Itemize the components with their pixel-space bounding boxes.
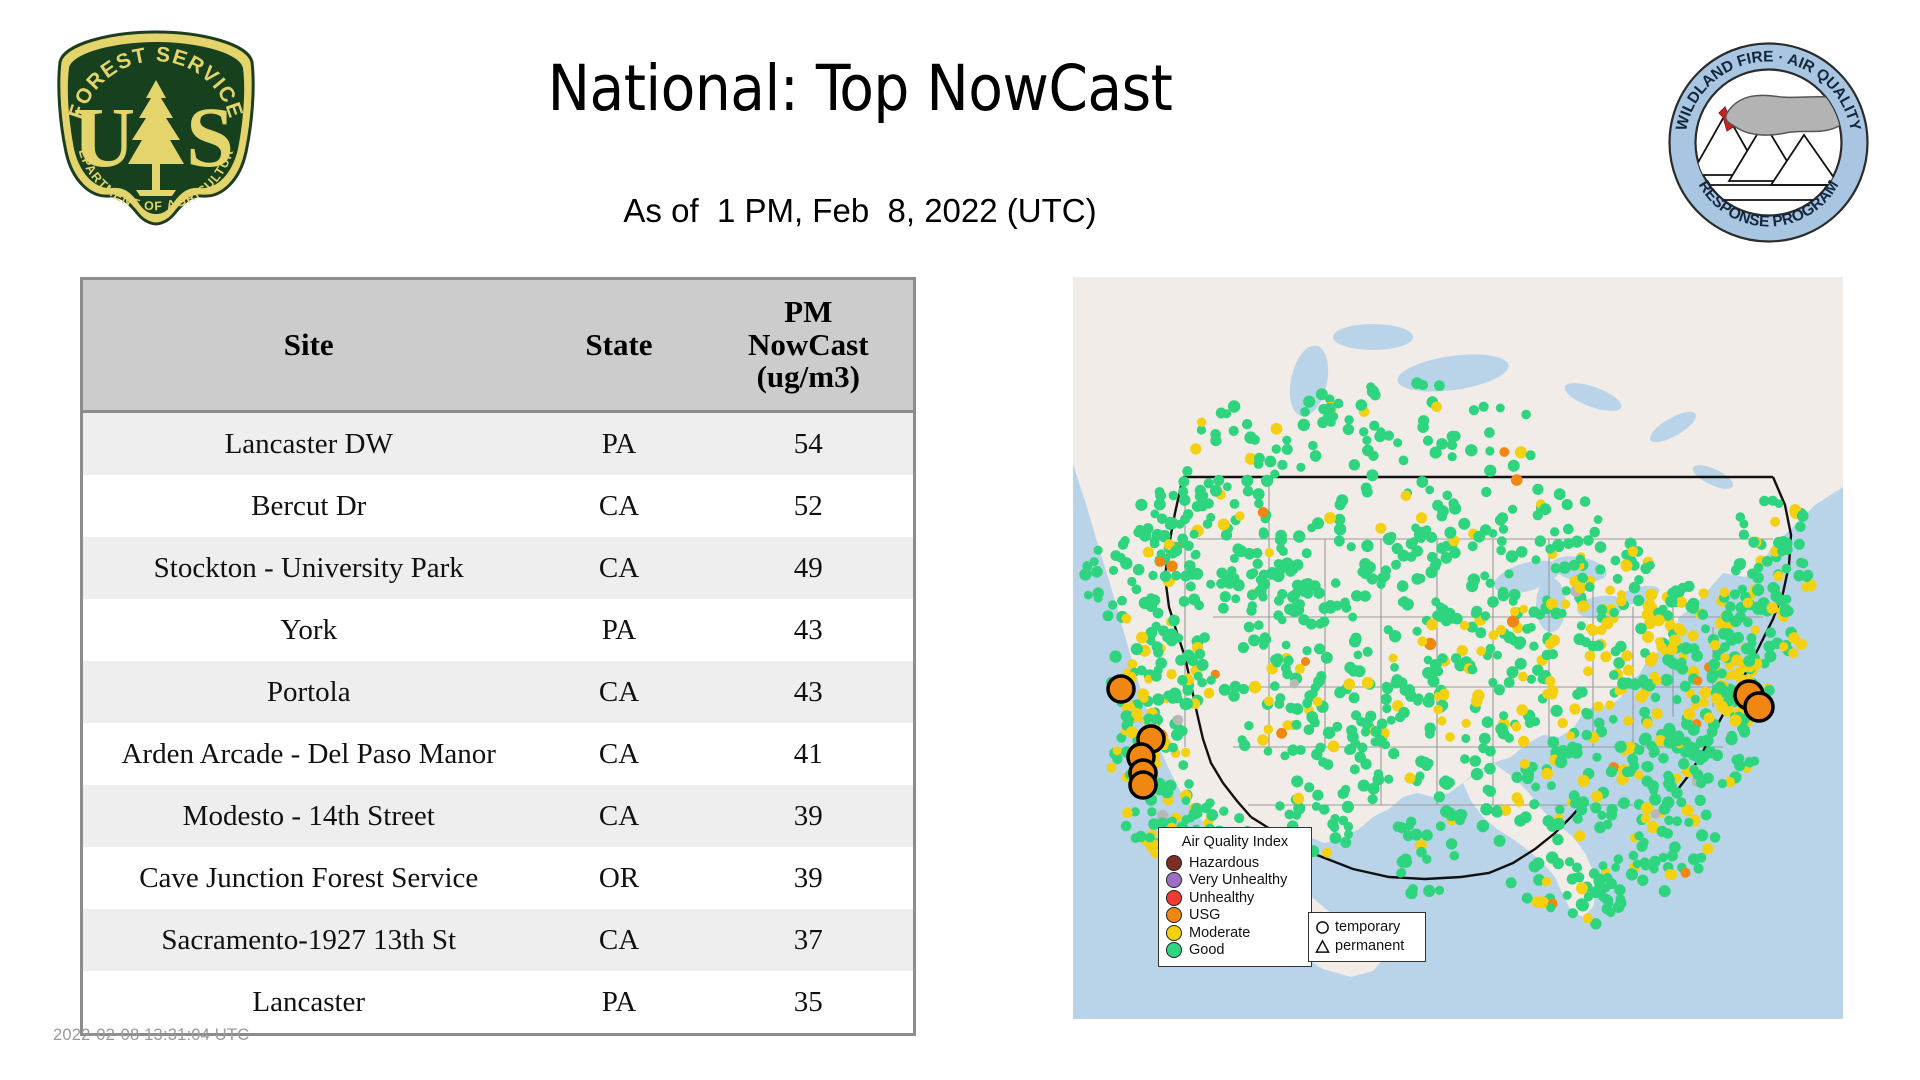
table-row[interactable]: Lancaster DWPA54 (82, 412, 915, 476)
pm-label: PM (784, 294, 832, 329)
monitor-dot (1484, 427, 1495, 438)
monitor-dot (1764, 650, 1776, 662)
monitor-dot (1257, 734, 1268, 745)
monitor-dot (1669, 841, 1681, 853)
monitor-dot (1426, 532, 1437, 543)
legend-swatch-icon (1166, 855, 1182, 871)
table-row[interactable]: YorkPA43 (82, 599, 915, 661)
monitor-dot (1204, 688, 1215, 699)
monitor-dot (1155, 490, 1166, 501)
monitor-dot (1417, 636, 1427, 646)
monitor-dot (1494, 684, 1505, 695)
monitor-dot (1152, 641, 1163, 652)
monitor-dot (1545, 676, 1555, 686)
monitor-dot (1213, 475, 1224, 486)
monitor-dot (1348, 613, 1357, 622)
monitor-dot (1168, 743, 1178, 753)
monitor-dot (1362, 445, 1374, 457)
monitor-dot (1664, 869, 1674, 879)
monitor-dot (1363, 647, 1373, 657)
monitor-dot (1242, 419, 1252, 429)
monitor-dot (1419, 757, 1431, 769)
monitor-dot (1406, 817, 1416, 827)
monitor-dot (1229, 426, 1239, 436)
monitor-dot (1693, 863, 1703, 873)
monitor-dot (1422, 855, 1431, 864)
monitor-dot (1179, 596, 1190, 607)
monitor-dot (1680, 681, 1691, 692)
monitor-dot (1307, 524, 1316, 533)
monitor-dot (1770, 517, 1780, 527)
monitor-dot (1499, 447, 1509, 457)
cell-site: Portola (82, 661, 535, 723)
monitor-dot (1621, 650, 1632, 661)
monitor-dot (1636, 841, 1647, 852)
legend-swatch-icon (1166, 942, 1182, 958)
monitor-dot (1434, 705, 1443, 714)
monitor-dot (1120, 557, 1132, 569)
monitor-dot (1446, 838, 1457, 849)
monitor-dot (1282, 444, 1293, 455)
monitor-dot (1258, 507, 1269, 518)
legend-row-very-unhealthy: Very Unhealthy (1166, 872, 1304, 890)
monitor-dot (1659, 885, 1671, 897)
monitor-dot (1667, 657, 1679, 669)
monitor-dot (1642, 718, 1652, 728)
monitor-dot (1121, 821, 1132, 832)
monitor-dot (1293, 793, 1304, 804)
monitor-dot (1265, 456, 1277, 468)
monitor-dot (1691, 695, 1700, 704)
air-quality-map[interactable]: Air Quality Index HazardousVery Unhealth… (1073, 277, 1843, 1019)
monitor-dot (1566, 731, 1575, 740)
monitor-dot (1303, 396, 1315, 408)
cell-value: 54 (704, 412, 915, 476)
monitor-dot (1348, 665, 1360, 677)
legend-row-permanent: permanent (1315, 937, 1419, 956)
monitor-dot (1606, 766, 1617, 777)
monitor-dot (1302, 646, 1311, 655)
monitor-dot (1688, 853, 1700, 865)
monitor-dot (1184, 560, 1196, 572)
monitor-dot (1747, 633, 1757, 643)
table-row[interactable]: Arden Arcade - Del Paso ManorCA41 (82, 723, 915, 785)
monitor-dot (1720, 587, 1730, 597)
monitor-dot (1462, 719, 1471, 728)
monitor-dot (1330, 832, 1342, 844)
monitor-dot (1150, 510, 1159, 519)
legend-row-hazardous: Hazardous (1166, 854, 1304, 872)
monitor-dot (1218, 518, 1230, 530)
monitor-dot (1230, 499, 1240, 509)
monitor-dot (1316, 671, 1326, 681)
monitor-dot (1166, 561, 1177, 572)
legend-label-temporary: temporary (1335, 920, 1400, 935)
monitor-dot (1507, 616, 1519, 628)
monitor-dot (1580, 496, 1591, 507)
monitor-dot (1509, 589, 1521, 601)
monitor-dot (1712, 750, 1724, 762)
top-site-marker (1108, 676, 1134, 702)
table-row[interactable]: Cave Junction Forest ServiceOR39 (82, 847, 915, 909)
monitor-dot (1641, 762, 1651, 772)
monitor-dot (1354, 651, 1363, 660)
monitor-dot (1435, 886, 1444, 895)
table-row[interactable]: Bercut DrCA52 (82, 475, 915, 537)
monitor-dot (1663, 771, 1673, 781)
monitor-dot (1558, 718, 1568, 728)
monitor-dot (1512, 722, 1522, 732)
monitor-dot (1190, 530, 1199, 539)
monitor-dot (1335, 499, 1346, 510)
monitor-dot (1558, 745, 1568, 755)
monitor-dot (1460, 754, 1470, 764)
monitor-dot (1298, 419, 1310, 431)
monitor-dot (1275, 559, 1285, 569)
monitor-dot (1300, 407, 1310, 417)
monitor-dot (1495, 515, 1506, 526)
monitor-dot (1539, 503, 1551, 515)
monitor-dot (1578, 775, 1590, 787)
table-row[interactable]: Stockton - University ParkCA49 (82, 537, 915, 599)
monitor-dot (1471, 609, 1481, 619)
monitor-dot (1634, 745, 1644, 755)
monitor-dot (1173, 715, 1183, 725)
monitor-dot (1389, 654, 1398, 663)
monitor-dot (1498, 590, 1509, 601)
legend-swatch-icon (1166, 925, 1182, 941)
monitor-dot (1423, 885, 1435, 897)
cell-site: Lancaster (82, 971, 535, 1035)
top-nowcast-table: Site State PM NowCast (ug/m3) Lancaster … (80, 277, 916, 982)
monitor-dot (1090, 557, 1099, 566)
monitor-dot (1418, 380, 1428, 390)
usfs-shield-logo: FOREST SERVICE DEPARTMENT OF AGRICULTURE… (52, 28, 260, 228)
monitor-dot (1121, 536, 1130, 545)
monitor-dot (1591, 791, 1603, 803)
monitor-dot (1219, 684, 1231, 696)
table-row[interactable]: PortolaCA43 (82, 661, 915, 723)
monitor-dot (1552, 539, 1564, 551)
monitor-dot (1699, 698, 1709, 708)
monitor-dot (1271, 423, 1283, 435)
cell-site: York (82, 599, 535, 661)
cell-value: 37 (704, 909, 915, 971)
monitor-dot (1218, 603, 1229, 614)
monitor-dot (1169, 491, 1178, 500)
monitor-dot (1716, 701, 1728, 713)
monitor-dot (1661, 674, 1673, 686)
monitor-dot (1577, 600, 1589, 612)
monitor-dot (1235, 511, 1244, 520)
monitor-dot (1688, 598, 1700, 610)
monitor-dot (1148, 571, 1157, 580)
monitor-dot (1197, 678, 1207, 688)
monitor-dot (1276, 544, 1285, 553)
monitor-dot (1344, 678, 1356, 690)
monitor-dot (1496, 546, 1506, 556)
monitor-dot (1531, 717, 1540, 726)
monitor-dot (1594, 822, 1606, 834)
monitor-dot (1437, 716, 1446, 725)
monitor-dot (1182, 796, 1191, 805)
monitor-dot (1695, 795, 1706, 806)
monitor-dot (1384, 775, 1393, 784)
legend-label: Very Unhealthy (1189, 873, 1287, 888)
monitor-dot (1646, 599, 1655, 608)
monitor-dot (1330, 814, 1339, 823)
monitor-type-legend: temporary permanent (1308, 912, 1426, 962)
monitor-dot (1431, 597, 1440, 606)
monitor-dot (1485, 746, 1496, 757)
monitor-dot (1522, 624, 1532, 634)
monitor-dot (1504, 632, 1516, 644)
legend-row-unhealthy: Unhealthy (1166, 889, 1304, 907)
page-subtitle: As of 1 PM, Feb 8, 2022 (UTC) (330, 192, 1390, 230)
table-row[interactable]: Modesto - 14th StreetCA39 (82, 785, 915, 847)
monitor-dot (1695, 755, 1705, 765)
monitor-dot (1519, 605, 1528, 614)
monitor-dot (1573, 814, 1583, 824)
monitor-dot (1651, 693, 1661, 703)
monitor-dot (1276, 728, 1287, 739)
cell-state: CA (534, 785, 703, 847)
monitor-dot (1356, 717, 1366, 727)
monitor-dot (1674, 623, 1685, 634)
monitor-dot (1652, 676, 1661, 685)
monitor-dot (1765, 627, 1776, 638)
monitor-dot (1422, 667, 1434, 679)
monitor-dot (1445, 732, 1455, 742)
monitor-dot (1667, 588, 1677, 598)
monitor-dot (1368, 783, 1380, 795)
monitor-dot (1593, 701, 1603, 711)
table-row[interactable]: Sacramento-1927 13th StCA37 (82, 909, 915, 971)
monitor-dot (1149, 595, 1160, 606)
monitor-dot (1672, 695, 1681, 704)
monitor-dot (1782, 564, 1792, 574)
monitor-dot (1602, 894, 1613, 905)
monitor-dot (1171, 545, 1182, 556)
monitor-dot (1730, 616, 1742, 628)
monitor-dot (1623, 716, 1633, 726)
monitor-dot (1468, 665, 1478, 675)
monitor-dot (1362, 487, 1373, 498)
monitor-dot (1659, 803, 1671, 815)
top-site-marker (1745, 693, 1773, 721)
monitor-dot (1645, 655, 1657, 667)
monitor-dot (1788, 648, 1798, 658)
monitor-dot (1622, 767, 1633, 778)
monitor-dot (1328, 741, 1340, 753)
monitor-dot (1645, 589, 1657, 601)
monitor-dot (1730, 715, 1742, 727)
monitor-dot (1751, 625, 1760, 634)
monitor-dot (1310, 450, 1322, 462)
monitor-dot (1577, 621, 1586, 630)
monitor-dot (1486, 579, 1495, 588)
monitor-dot (1489, 529, 1498, 538)
monitor-dot (1504, 733, 1514, 743)
monitor-dot (1318, 757, 1328, 767)
legend-row-moderate: Moderate (1166, 924, 1304, 942)
monitor-dot (1493, 808, 1503, 818)
monitor-dot (1795, 521, 1806, 532)
monitor-dot (1600, 651, 1611, 662)
monitor-dot (1773, 537, 1784, 548)
legend-row-temporary: temporary (1315, 918, 1419, 937)
monitor-dot (1629, 851, 1639, 861)
cell-site: Bercut Dr (82, 475, 535, 537)
monitor-dot (1613, 574, 1623, 584)
monitor-dot (1676, 797, 1686, 807)
monitor-dot (1113, 746, 1122, 755)
monitor-dot (1265, 569, 1274, 578)
monitor-dot (1221, 529, 1232, 540)
monitor-dot (1333, 399, 1343, 409)
monitor-dot (1522, 772, 1534, 784)
monitor-dot (1547, 781, 1556, 790)
monitor-dot (1583, 535, 1594, 546)
monitor-dot (1403, 830, 1414, 841)
monitor-dot (1413, 627, 1422, 636)
monitor-dot (1559, 561, 1571, 573)
monitor-dot (1103, 610, 1114, 621)
monitor-dot (1397, 580, 1409, 592)
monitor-dot (1361, 727, 1370, 736)
monitor-dot (1550, 527, 1559, 536)
monitor-dot (1641, 814, 1651, 824)
monitor-dot (1634, 575, 1643, 584)
monitor-dot (1531, 783, 1540, 792)
shield-letter-s: S (186, 89, 234, 185)
monitor-dot (1653, 614, 1665, 626)
monitor-dot (1181, 698, 1193, 710)
monitor-dot (1178, 476, 1189, 487)
monitor-dot (1291, 775, 1303, 787)
monitor-dot (1479, 402, 1489, 412)
monitor-dot (1164, 780, 1176, 792)
aqi-legend-title: Air Quality Index (1166, 834, 1304, 850)
monitor-dot (1401, 491, 1412, 502)
monitor-dot (1796, 638, 1807, 649)
monitor-dot (1586, 624, 1596, 634)
cell-site: Cave Junction Forest Service (82, 847, 535, 909)
monitor-dot (1738, 585, 1748, 595)
monitor-dot (1535, 535, 1546, 546)
monitor-dot (1238, 642, 1249, 653)
cell-site: Stockton - University Park (82, 537, 535, 599)
monitor-dot (1497, 536, 1507, 546)
monitor-dot (1801, 582, 1811, 592)
monitor-dot (1388, 748, 1399, 759)
monitor-dot (1398, 707, 1409, 718)
monitor-dot (1582, 730, 1593, 741)
nowcast-label: NowCast (748, 327, 869, 362)
monitor-dot (1308, 441, 1318, 451)
cell-site: Modesto - 14th Street (82, 785, 535, 847)
monitor-dot (1436, 438, 1448, 450)
monitor-dot (1552, 834, 1563, 845)
monitor-dot (1190, 443, 1201, 454)
monitor-dot (1561, 600, 1570, 609)
monitor-dot (1707, 726, 1718, 737)
monitor-dot (1555, 805, 1565, 815)
monitor-dot (1618, 797, 1630, 809)
table-row[interactable]: LancasterPA35 (82, 971, 915, 1035)
monitor-dot (1244, 623, 1253, 632)
monitor-dot (1585, 582, 1595, 592)
monitor-dot (1273, 610, 1283, 620)
monitor-dot (1518, 736, 1529, 747)
monitor-dot (1521, 410, 1531, 420)
monitor-dot (1465, 444, 1477, 456)
monitor-dot (1767, 582, 1779, 594)
legend-label: Good (1189, 943, 1224, 958)
monitor-dot (1390, 663, 1399, 672)
monitor-dot (1529, 799, 1539, 809)
monitor-dot (1331, 578, 1341, 588)
monitor-dot (1264, 725, 1274, 735)
monitor-dot (1411, 545, 1423, 557)
monitor-dot (1094, 546, 1103, 555)
monitor-dot (1171, 571, 1181, 581)
monitor-dot (1476, 646, 1486, 656)
monitor-dot (1434, 667, 1443, 676)
cell-value: 43 (704, 661, 915, 723)
monitor-dot (1664, 737, 1675, 748)
cell-value: 43 (704, 599, 915, 661)
monitor-dot (1368, 794, 1378, 804)
cell-site: Arden Arcade - Del Paso Manor (82, 723, 535, 785)
monitor-dot (1646, 561, 1655, 570)
monitor-dot (1614, 884, 1625, 895)
monitor-dot (1700, 687, 1712, 699)
cell-state: PA (534, 971, 703, 1035)
monitor-dot (1611, 556, 1621, 566)
monitor-dot (1563, 524, 1574, 535)
monitor-dot (1717, 669, 1727, 679)
monitor-dot (1583, 666, 1593, 676)
monitor-dot (1140, 694, 1149, 703)
monitor-dot (1461, 734, 1470, 743)
monitor-dot (1487, 596, 1499, 608)
generated-timestamp: 2022-02-08 13:31:04 UTC (53, 1026, 249, 1045)
monitor-dot (1259, 529, 1269, 539)
monitor-dot (1231, 594, 1240, 603)
monitor-dot (1126, 726, 1138, 738)
monitor-dot (1649, 864, 1658, 873)
monitor-dot (1250, 435, 1260, 445)
monitor-dot (1152, 693, 1164, 705)
monitor-dot (1206, 809, 1218, 821)
monitor-dot (1676, 597, 1687, 608)
monitor-dot (1610, 608, 1619, 617)
monitor-dot (1174, 633, 1183, 642)
monitor-dot (1254, 453, 1265, 464)
monitor-dot (1387, 716, 1396, 725)
monitor-dot (1355, 752, 1366, 763)
monitor-dot (1253, 559, 1263, 569)
monitor-dot (1567, 874, 1578, 885)
monitor-dot (1731, 655, 1743, 667)
monitor-dot (1367, 573, 1378, 584)
wfaqrp-logo: WILDLAND FIRE · AIR QUALITY RESPONSE PRO… (1661, 35, 1876, 250)
monitor-dot (1136, 632, 1148, 644)
monitor-dot (1726, 733, 1738, 745)
monitor-dot (1326, 603, 1336, 613)
monitor-dot (1108, 600, 1117, 609)
